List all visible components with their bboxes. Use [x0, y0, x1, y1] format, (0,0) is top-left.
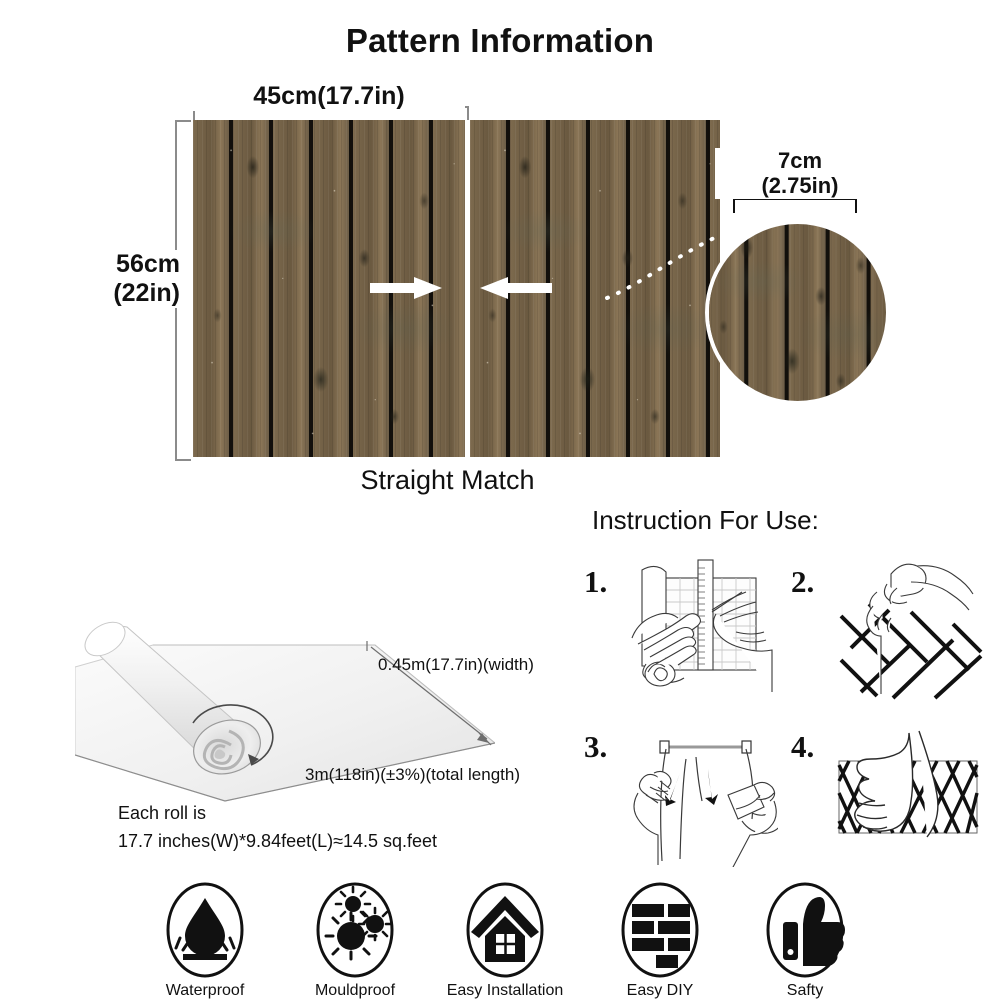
feature-label: Waterproof: [140, 982, 270, 1000]
step-number: 1.: [584, 564, 607, 600]
each-roll-spec: Each roll is 17.7 inches(W)*9.84feet(L)≈…: [118, 800, 437, 856]
feature-easy-installation: Easy Installation: [440, 880, 570, 1000]
water-drop-icon: [163, 880, 247, 980]
mould-spores-icon: [313, 880, 397, 980]
feature-label: Safty: [740, 982, 870, 1000]
each-roll-line-1: Each roll is: [118, 800, 437, 828]
feature-label: Easy DIY: [595, 982, 725, 1000]
feature-badge: [313, 880, 397, 980]
pattern-swatch-area: 45cm(17.7in) 56cm (22in): [175, 120, 720, 457]
roll-length-label: 3m(118in)(±3%)(total length): [305, 765, 520, 785]
brick-wall-icon: [618, 880, 702, 980]
step-number: 2.: [791, 564, 814, 600]
house-icon: [463, 880, 547, 980]
feature-badge: [763, 880, 847, 980]
each-roll-line-2: 17.7 inches(W)*9.84feet(L)≈14.5 sq.feet: [118, 828, 437, 856]
feature-badge: [463, 880, 547, 980]
feature-badge: [618, 880, 702, 980]
step-number: 3.: [584, 729, 607, 765]
feature-safty: Safty: [740, 880, 870, 1000]
roll-width-label: 0.45m(17.7in)(width): [378, 655, 534, 675]
hands-ruler-measure-icon: [624, 552, 778, 702]
instruction-step-1: 1.: [578, 548, 778, 708]
zoom-dimension-text-in: (2.75in): [715, 173, 885, 198]
instruction-heading: Instruction For Use:: [592, 505, 819, 536]
thumbs-up-icon: [763, 880, 847, 980]
feature-easy-diy: Easy DIY: [595, 880, 725, 1000]
zoom-dimension-text-cm: 7cm: [715, 148, 885, 173]
zoom-dimension-bracket: [733, 198, 857, 213]
height-dimension-text-cm: 56cm: [70, 250, 180, 279]
instruction-step-4: 4.: [785, 713, 985, 873]
feature-waterproof: Waterproof: [140, 880, 270, 1000]
hand-smooth-wall-icon: [831, 717, 985, 867]
wood-texture-magnified: [707, 222, 888, 403]
page-title: Pattern Information: [0, 22, 1000, 60]
feature-mouldproof: Mouldproof: [290, 880, 420, 1000]
hands-squeegee-smooth-icon: [624, 717, 778, 867]
zoom-dimension-label: 7cm (2.75in): [715, 148, 885, 199]
instruction-step-2: 2.: [785, 548, 985, 708]
match-arrow-left-pointing-icon: [480, 277, 552, 299]
feature-badge: [163, 880, 247, 980]
straight-match-caption: Straight Match: [175, 465, 720, 496]
pattern-magnifier-circle: [705, 220, 890, 405]
infographic-canvas: Pattern Information 45cm(17.7in) 56cm (2…: [0, 0, 1000, 1000]
hands-peel-backing-icon: [831, 552, 985, 702]
height-dimension-text-in: (22in): [70, 279, 180, 308]
width-dimension-label: 45cm(17.7in): [193, 82, 465, 111]
feature-label: Mouldproof: [290, 982, 420, 1000]
step-number: 4.: [791, 729, 814, 765]
height-dimension-label: 56cm (22in): [70, 250, 180, 308]
feature-label: Easy Installation: [440, 982, 570, 1000]
match-arrow-right-pointing-icon: [370, 277, 442, 299]
feature-badges: Waterproof: [140, 880, 870, 985]
width-dimension-text: 45cm(17.7in): [247, 82, 410, 110]
instruction-steps: 1.: [578, 548, 990, 878]
instruction-step-3: 3.: [578, 713, 778, 873]
